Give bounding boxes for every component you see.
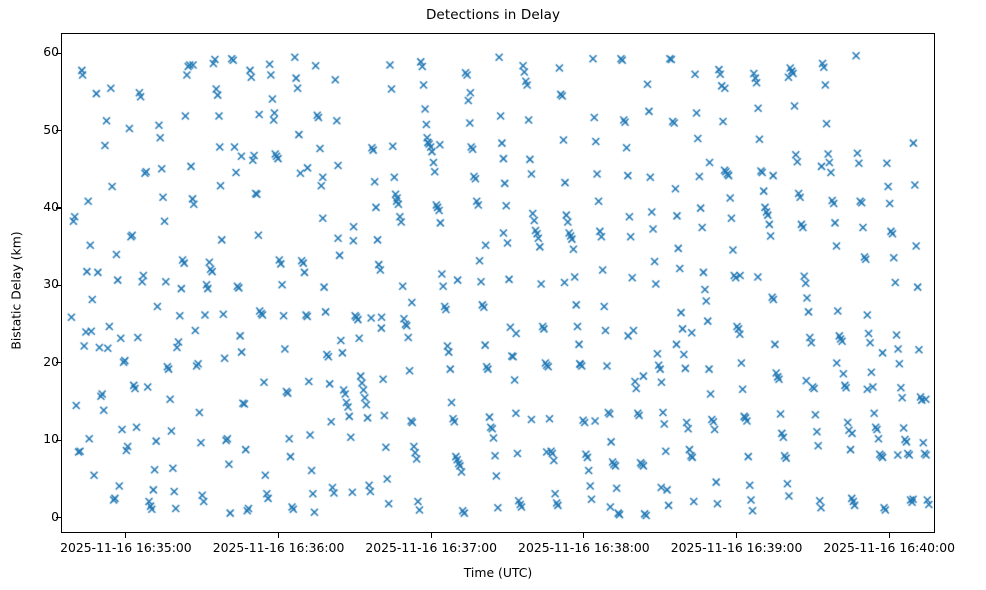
x-tick-mark <box>736 533 737 538</box>
plot-area <box>61 33 935 533</box>
x-tick-label: 2025-11-16 16:35:00 <box>60 541 192 555</box>
matplotlib-figure: Detections in Delay 0102030405060 2025-1… <box>0 0 986 590</box>
x-tick-label: 2025-11-16 16:40:00 <box>823 541 955 555</box>
x-tick-mark <box>278 533 279 538</box>
x-tick-label: 2025-11-16 16:37:00 <box>365 541 497 555</box>
y-tick-label: 10 <box>43 433 59 445</box>
x-tick-mark <box>125 533 126 538</box>
x-tick-label: 2025-11-16 16:39:00 <box>671 541 803 555</box>
x-tick-mark <box>583 533 584 538</box>
x-tick-label: 2025-11-16 16:38:00 <box>518 541 650 555</box>
x-tick-mark <box>431 533 432 538</box>
y-tick-label: 0 <box>51 511 59 523</box>
y-tick-label: 60 <box>43 46 59 58</box>
y-axis-label: Bistatic Delay (km) <box>9 191 24 391</box>
x-axis-label: Time (UTC) <box>61 565 935 580</box>
x-tick-label: 2025-11-16 16:36:00 <box>213 541 345 555</box>
scatter-series <box>62 34 935 533</box>
y-tick-label: 50 <box>43 124 59 136</box>
y-tick-label: 20 <box>43 356 59 368</box>
chart-title: Detections in Delay <box>0 7 986 23</box>
y-tick-label: 30 <box>43 278 59 290</box>
y-tick-label: 40 <box>43 201 59 213</box>
x-tick-mark <box>889 533 890 538</box>
